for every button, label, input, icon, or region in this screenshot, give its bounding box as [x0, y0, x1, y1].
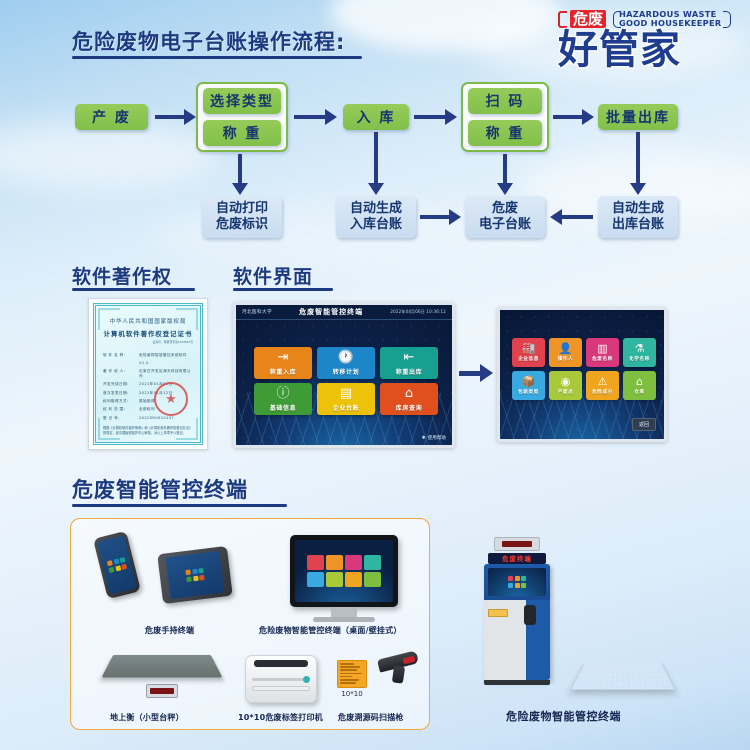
flow-arrow-down-4 — [626, 132, 650, 196]
tile-basic-info[interactable]: ⓘ 基础信息 — [254, 383, 312, 415]
tile-label: 产废点 — [558, 389, 574, 395]
info-icon: ⓘ — [276, 387, 289, 401]
flow-auto-print-line1: 自动打印 — [216, 201, 268, 217]
screen-timestamp: 2022年04月06日 10:36:12 — [390, 309, 446, 315]
barcode-icon — [103, 442, 139, 445]
tile-weigh-outbound[interactable]: ⇤ 称重出库 — [380, 347, 438, 379]
cert-corner-ornament — [98, 418, 120, 440]
flow-arrow-down-3 — [493, 154, 517, 196]
flow-inbound-ledger-line1: 自动生成 — [350, 201, 402, 217]
screen-help-link[interactable]: ✱ 使用帮助 — [422, 435, 446, 441]
tile-weigh-inbound[interactable]: ⇥ 称重入库 — [254, 347, 312, 379]
product-caption: 危废手持终端 — [145, 625, 194, 636]
cert-corner-ornament — [176, 308, 198, 330]
kiosk-printout-tray — [488, 609, 508, 617]
flow-node-produce-waste: 产 废 — [75, 104, 148, 130]
cert-reg-no: 证书号：软著登字第1234567号 — [103, 340, 193, 344]
cert-field-row: 著 作 权 人:石家庄开发区海天科技有限公司 — [103, 369, 193, 379]
kiosk-base — [484, 680, 550, 685]
printer-slot — [252, 678, 310, 681]
cert-field-row: V1.0 — [103, 361, 193, 365]
cert-field-value: 石家庄开发区海天科技有限公司 — [139, 369, 193, 379]
cert-field-key: 首次发表日期: — [103, 391, 139, 396]
software-copyright-certificate: 中华人民共和国国家版权局 计算机软件著作权登记证书 证书号：软著登字第12345… — [88, 298, 208, 450]
flask-icon: ⚗ — [635, 343, 645, 355]
caption-smart-kiosk: 危险废物智能管控终端 — [506, 708, 621, 724]
back-button[interactable]: 返回 — [632, 418, 656, 431]
device-screen-tiles — [107, 557, 127, 572]
warehouse-icon: ⌂ — [636, 376, 643, 388]
cert-corner-ornament — [176, 418, 198, 440]
cert-field-value: 危险废物智能管控系统软件 — [139, 353, 187, 358]
transfer-plan-clock-icon: 🕐 — [338, 351, 354, 365]
tile-chemical-name[interactable]: ⚗ 化学名称 — [623, 338, 656, 367]
flow-arrow-6 — [550, 204, 594, 230]
tile-label: 危废名称 — [592, 356, 613, 362]
operator-person-icon: 👤 — [559, 343, 573, 355]
flow-node-batch-outbound: 批量出库 — [598, 104, 678, 130]
section-title-interface: 软件界面 — [233, 262, 313, 289]
factory-icon: 🏭 — [522, 343, 536, 355]
flow-node-auto-outbound-ledger: 自动生成 出库台账 — [598, 196, 678, 238]
bracket-icon — [558, 11, 567, 28]
kiosk-screen — [488, 568, 546, 596]
device-screen-tiles — [185, 568, 204, 581]
flow-arrow-down-1 — [228, 154, 252, 196]
software-screen-basic-info: 🏭 企业信息 👤 操作人 ▥ 危废名称 ⚗ 化学名称 📦 包装类型 ◉ 产废点 … — [497, 307, 667, 442]
screen-org-name: 河北医科大学 — [242, 309, 272, 315]
ledger-icon: ▤ — [340, 387, 352, 401]
handheld-terminal-icon — [93, 531, 141, 599]
cert-field-key: 软 件 名 称: — [103, 353, 139, 358]
flow-node-auto-print-label: 自动打印 危废标识 — [202, 196, 282, 238]
kiosk-screen-tiles — [508, 576, 526, 587]
screen-header-bar: 河北医科大学 危废智能管控终端 2022年04月06日 10:36:12 — [236, 305, 452, 320]
cert-field-row: 软 件 名 称:危险废物智能管控系统软件 — [103, 353, 193, 358]
kiosk-screen-housing — [484, 564, 550, 600]
kiosk-led-display: 危废终端 — [488, 553, 546, 564]
cert-field-key — [103, 361, 139, 365]
tile-label: 仓库 — [634, 389, 644, 395]
product-handheld-terminal — [100, 534, 134, 596]
cert-field-value: 2022SR0010137 — [139, 416, 174, 421]
hazard-label-icon — [337, 660, 367, 688]
cert-field-value: 全部权利 — [139, 407, 155, 412]
flow-arrow-3 — [414, 104, 460, 130]
caption-floor-scale: 地上衡（小型台秤） — [110, 712, 184, 723]
product-label-printer — [245, 655, 317, 703]
hazard-card-icon: ▥ — [597, 343, 607, 355]
logo-english-wrap: HAZARDOUS WASTE GOOD HOUSEKEEPER — [613, 10, 731, 29]
screen2-tile-grid: 🏭 企业信息 👤 操作人 ▥ 危废名称 ⚗ 化学名称 📦 包装类型 ◉ 产废点 … — [512, 338, 656, 400]
official-seal-icon: ★ — [154, 382, 188, 416]
cert-title-line2: 计算机软件著作权登记证书 — [103, 329, 193, 338]
tile-enterprise-ledger[interactable]: ▤ 企业台账 — [317, 383, 375, 415]
cert-field-key: 著 作 权 人: — [103, 369, 139, 379]
tile-label: 转移计划 — [333, 367, 359, 376]
printer-output-tray — [252, 686, 310, 691]
label-printer-icon — [245, 655, 317, 703]
monitor-neck — [331, 607, 357, 617]
flow-inbound-ledger-line2: 入库台账 — [350, 217, 402, 233]
tile-label: 基础信息 — [270, 403, 296, 412]
tile-label: 化学名称 — [629, 356, 650, 362]
page-title-underline — [72, 56, 362, 59]
logo-red-tag: 危废 — [570, 10, 606, 28]
flow-node-auto-inbound-ledger: 自动生成 入库台账 — [336, 196, 416, 238]
process-flow-diagram: 产 废 选择类型 称 重 入 库 扫 码 称 重 批量出库 自动打印 危废标识 — [0, 80, 750, 240]
product-floor-scale — [108, 652, 216, 698]
flow-node-inbound: 入 库 — [343, 104, 409, 130]
tile-label: 企业台账 — [333, 403, 359, 412]
brand-logo: 危废 HAZARDOUS WASTE GOOD HOUSEKEEPER 好管家 — [558, 8, 738, 74]
product-caption: 危废溯源码扫描枪 — [338, 712, 404, 723]
tile-enterprise-info[interactable]: 🏭 企业信息 — [512, 338, 545, 367]
printer-lid — [254, 660, 308, 667]
warehouse-search-icon: ⌂ — [405, 387, 413, 401]
tile-warehouse[interactable]: ⌂ 仓库 — [623, 371, 656, 400]
product-caption: 10*10危废标签打印机 — [238, 712, 323, 723]
tile-hazard-component[interactable]: ⚠ 危险成分 — [586, 371, 619, 400]
tile-label: 企业信息 — [518, 356, 539, 362]
flow-arrow-5 — [420, 204, 462, 230]
tile-label: 操作人 — [558, 356, 574, 362]
tile-operator[interactable]: 👤 操作人 — [549, 338, 582, 367]
warning-triangle-icon: ⚠ — [598, 376, 608, 388]
outbound-warehouse-icon: ⇤ — [404, 351, 415, 365]
product-caption: 地上衡（小型台秤） — [110, 712, 184, 723]
terminal-title-underline — [72, 504, 287, 507]
caption-handheld-terminal: 危废手持终端 — [145, 625, 194, 636]
tile-waste-point[interactable]: ◉ 产废点 — [549, 371, 582, 400]
tile-warehouse-query[interactable]: ⌂ 库房查询 — [380, 383, 438, 415]
tile-label: 称重出库 — [396, 367, 422, 376]
tile-label: 包装类型 — [518, 389, 539, 395]
flow-node-scan-code: 扫 码 — [468, 88, 542, 114]
caption-label-printer: 10*10危废标签打印机 — [238, 712, 323, 723]
flow-node-select-type: 选择类型 — [203, 88, 281, 114]
label-size-text: 10*10 — [337, 690, 367, 698]
cert-field-key: 权 利 范 围: — [103, 407, 139, 412]
cloud-decoration — [330, 0, 560, 52]
scale-indicator-display — [146, 684, 178, 698]
product-desktop-terminal — [290, 535, 398, 622]
page-title: 危险废物电子台账操作流程: — [72, 26, 345, 56]
caption-desktop-terminal: 危险废物智能管控终端（桌面/壁挂式） — [259, 625, 402, 636]
kiosk-scanner-holder — [524, 605, 536, 625]
product-barcode-scanner — [372, 655, 418, 683]
help-icon: ✱ — [422, 436, 426, 441]
flow-node-weigh-2: 称 重 — [468, 120, 542, 146]
logo-en-line2: GOOD HOUSEKEEPER — [619, 19, 721, 29]
product-caption: 危险废物智能管控终端（桌面/壁挂式） — [259, 625, 402, 636]
logo-main-text: 好管家 — [558, 29, 738, 71]
flow-ledger-line1: 危废 — [479, 201, 531, 217]
screen-tile-grid: ⇥ 称重入库 🕐 转移计划 ⇤ 称重出库 ⓘ 基础信息 ▤ 企业台账 ⌂ 库房查… — [254, 347, 438, 415]
location-pin-person-icon: ◉ — [561, 376, 571, 388]
screens-transition-arrow — [459, 362, 493, 384]
tile-package-type[interactable]: 📦 包装类型 — [512, 371, 545, 400]
product-label-sample: 10*10 — [337, 660, 367, 698]
tile-transfer-plan[interactable]: 🕐 转移计划 — [317, 347, 375, 379]
flow-node-weigh-1: 称 重 — [203, 120, 281, 146]
rugged-tablet-icon — [157, 546, 233, 604]
cert-corner-ornament — [98, 308, 120, 330]
screen-app-title: 危废智能管控终端 — [272, 307, 390, 317]
tile-label: 危险成分 — [592, 389, 613, 395]
floor-scale-icon — [101, 655, 222, 678]
kiosk-weight-indicator — [494, 537, 540, 551]
device-screen-tiles — [307, 555, 381, 587]
barcode-scanner-icon — [372, 655, 418, 683]
cert-field-value: V1.0 — [139, 361, 149, 365]
tile-waste-name[interactable]: ▥ 危废名称 — [586, 338, 619, 367]
flow-arrow-down-2 — [364, 132, 388, 196]
product-smart-kiosk: 危废终端 — [480, 537, 566, 687]
flow-arrow-1 — [155, 104, 197, 130]
flow-node-electronic-ledger: 危废 电子台账 — [465, 196, 545, 238]
desktop-terminal-icon — [290, 535, 398, 607]
caption-barcode-scanner: 危废溯源码扫描枪 — [338, 712, 404, 723]
section-title-terminal: 危废智能管控终端 — [72, 474, 248, 504]
flow-auto-print-line2: 危废标识 — [216, 217, 268, 233]
copyright-title-underline — [72, 288, 195, 291]
flow-arrow-2 — [294, 104, 340, 130]
product-rugged-tablet — [160, 550, 230, 600]
flow-outbound-ledger-line1: 自动生成 — [612, 201, 664, 217]
tile-label: 称重入库 — [270, 367, 296, 376]
cert-field-value: 原始取得 — [139, 399, 155, 404]
help-label: 使用帮助 — [428, 435, 446, 441]
flow-ledger-line2: 电子台账 — [479, 217, 531, 233]
interface-title-underline — [233, 288, 333, 291]
flow-outbound-ledger-line2: 出库台账 — [612, 217, 664, 233]
scanner-grip — [392, 665, 405, 683]
section-title-copyright: 软件著作权 — [72, 262, 172, 289]
tile-label: 库房查询 — [396, 403, 422, 412]
monitor-base — [313, 617, 375, 622]
inbound-warehouse-icon: ⇥ — [278, 351, 289, 365]
software-screen-home: 河北医科大学 危废智能管控终端 2022年04月06日 10:36:12 ⇥ 称… — [233, 302, 455, 448]
cert-field-key: 开发完成日期: — [103, 382, 139, 387]
flow-arrow-4 — [553, 104, 597, 130]
kiosk-weighing-platform — [571, 661, 674, 689]
cert-field-key: 权利取得方式: — [103, 399, 139, 404]
package-box-icon: 📦 — [522, 376, 536, 388]
printer-power-button — [303, 676, 310, 683]
